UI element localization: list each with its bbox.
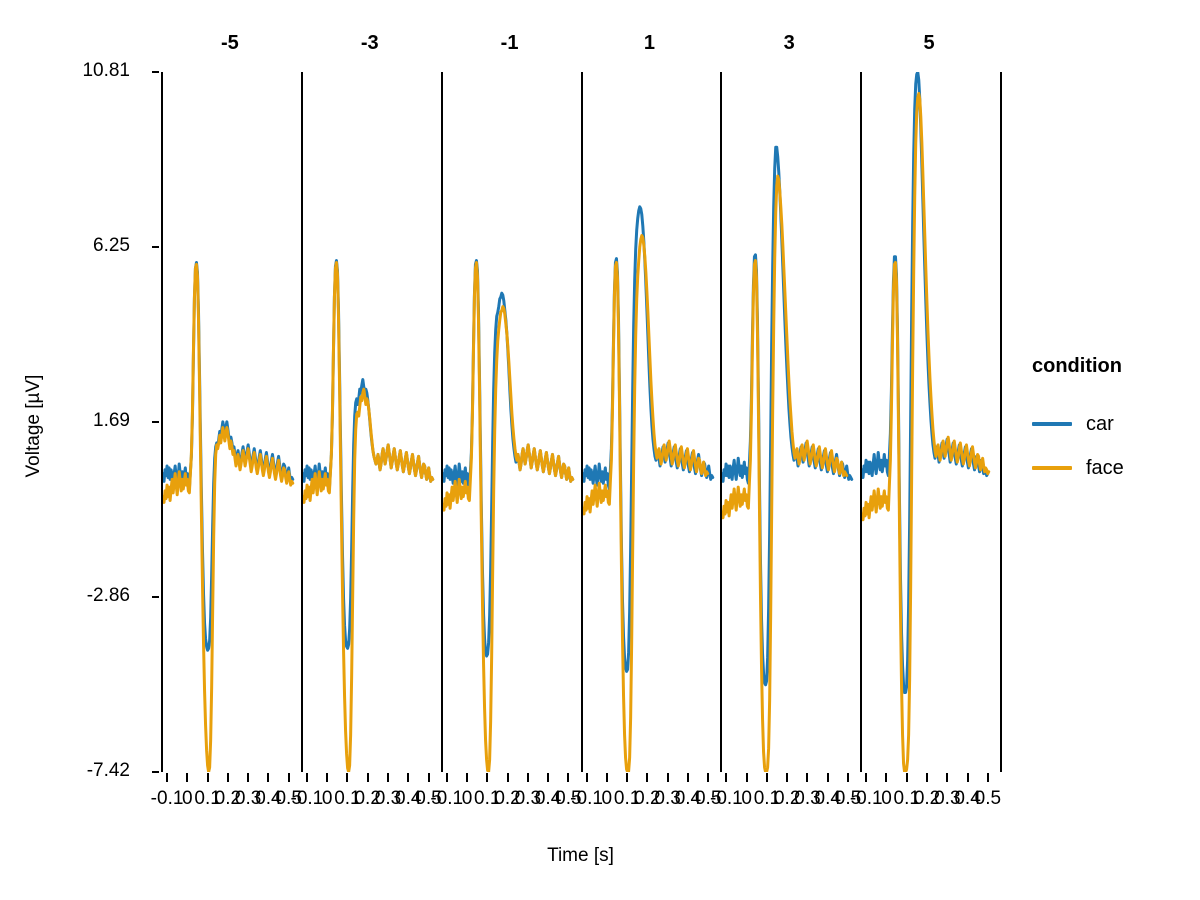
series-line-face — [862, 94, 989, 773]
series-line-car — [583, 207, 713, 672]
x-tick-mark — [766, 773, 768, 782]
x-tick-mark — [567, 773, 569, 782]
x-tick-mark — [527, 773, 529, 782]
legend-entry-face[interactable]: face — [1032, 446, 1124, 490]
x-tick-mark — [646, 773, 648, 782]
x-tick-mark — [606, 773, 608, 782]
waveform-plot — [862, 72, 998, 772]
x-tick-mark — [806, 773, 808, 782]
y-tick-mark — [152, 771, 159, 773]
panel-border — [1000, 72, 1002, 772]
y-tick-mark — [152, 421, 159, 423]
series-line-face — [443, 262, 573, 772]
waveform-plot — [443, 72, 579, 772]
legend-label-face: face — [1086, 457, 1124, 480]
x-tick-mark — [247, 773, 249, 782]
x-tick-mark — [407, 773, 409, 782]
facet-panel-neg1 — [443, 72, 579, 772]
legend-label-car: car — [1086, 413, 1114, 436]
x-tick-mark — [926, 773, 928, 782]
x-tick-mark — [667, 773, 669, 782]
y-tick-label: -7.42 — [30, 761, 130, 780]
waveform-plot — [303, 72, 439, 772]
legend-key-face — [1032, 466, 1072, 470]
x-tick-mark — [507, 773, 509, 782]
facet-panel-neg3 — [303, 72, 439, 772]
x-tick-mark — [725, 773, 727, 782]
y-tick-label: 10.81 — [30, 61, 130, 80]
series-line-car — [722, 147, 852, 685]
facet-panel-3 — [722, 72, 858, 772]
facet-panel-1 — [583, 72, 719, 772]
facet-strip-label-3: 3 — [720, 28, 858, 58]
x-tick-mark — [987, 773, 989, 782]
x-tick-mark — [346, 773, 348, 782]
x-tick-mark — [466, 773, 468, 782]
x-tick-mark — [707, 773, 709, 782]
legend-title: condition — [1032, 355, 1124, 378]
x-tick-mark — [387, 773, 389, 782]
x-tick-mark — [367, 773, 369, 782]
x-tick-mark — [428, 773, 430, 782]
x-tick-mark — [906, 773, 908, 782]
series-line-face — [303, 262, 433, 772]
waveform-plot — [583, 72, 719, 772]
x-tick-mark — [687, 773, 689, 782]
x-tick-mark — [306, 773, 308, 782]
x-tick-mark — [586, 773, 588, 782]
x-tick-mark — [186, 773, 188, 782]
x-tick-mark — [207, 773, 209, 782]
y-tick-mark — [152, 71, 159, 73]
x-tick-mark — [626, 773, 628, 782]
y-tick-label: 1.69 — [30, 411, 130, 430]
y-tick-mark — [152, 246, 159, 248]
series-line-face — [163, 264, 293, 772]
waveform-plot — [163, 72, 299, 772]
x-tick-mark — [446, 773, 448, 782]
facet-panel-5 — [862, 72, 998, 772]
facet-strip-label-neg5: -5 — [161, 28, 299, 58]
y-tick-label: 6.25 — [30, 236, 130, 255]
x-tick-mark — [227, 773, 229, 782]
legend-entry-car[interactable]: car — [1032, 402, 1124, 446]
x-tick-mark — [946, 773, 948, 782]
facet-strip-label-1: 1 — [581, 28, 719, 58]
x-tick-mark — [885, 773, 887, 782]
legend-entries: carface — [1032, 402, 1124, 490]
x-tick-mark — [967, 773, 969, 782]
waveform-plot — [722, 72, 858, 772]
series-line-face — [583, 236, 708, 772]
chart-root: Voltage [µV] Time [s] 10.816.251.69-2.86… — [0, 0, 1200, 900]
x-tick-mark — [486, 773, 488, 782]
legend: condition carface — [1032, 355, 1124, 490]
x-tick-mark — [865, 773, 867, 782]
x-tick-mark — [746, 773, 748, 782]
x-tick-mark — [166, 773, 168, 782]
facet-strip-label-5: 5 — [860, 28, 998, 58]
x-tick-label: 0.5 — [960, 788, 1016, 810]
x-tick-mark — [827, 773, 829, 782]
x-axis-title: Time [s] — [161, 845, 1000, 867]
series-line-car — [862, 72, 988, 693]
legend-key-car — [1032, 422, 1072, 426]
x-tick-mark — [267, 773, 269, 782]
x-tick-mark — [326, 773, 328, 782]
y-tick-mark — [152, 596, 159, 598]
facet-strip-label-neg3: -3 — [301, 28, 439, 58]
x-tick-mark — [288, 773, 290, 782]
x-tick-mark — [786, 773, 788, 782]
series-line-car — [163, 262, 293, 650]
facet-strip-label-neg1: -1 — [441, 28, 579, 58]
y-tick-label: -2.86 — [30, 586, 130, 605]
facet-panel-neg5 — [163, 72, 299, 772]
x-tick-mark — [847, 773, 849, 782]
x-tick-mark — [547, 773, 549, 782]
